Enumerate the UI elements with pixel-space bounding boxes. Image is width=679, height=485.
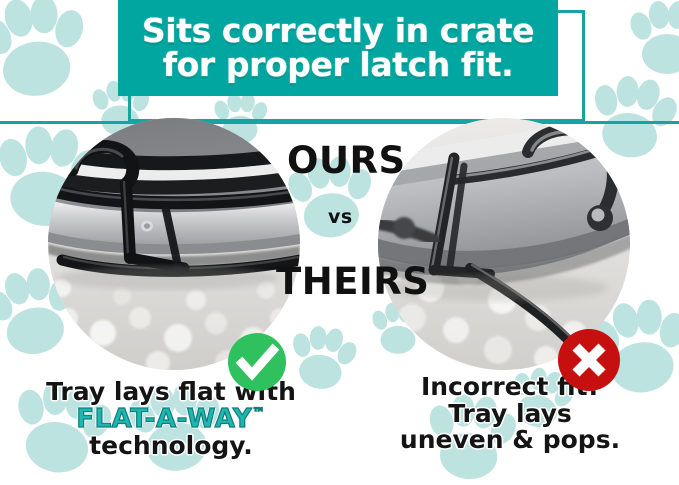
label-ours: OURS — [287, 139, 406, 182]
x-icon — [558, 329, 620, 391]
infographic-canvas: Sits correctly in crate for proper latch… — [0, 0, 679, 485]
caption-ours: Tray lays flat with FLAT-A-WAY™ technolo… — [6, 379, 336, 460]
brand-flat-a-way: FLAT-A-WAY — [76, 406, 252, 434]
banner-line-1: Sits correctly in crate — [142, 15, 534, 47]
label-vs: vs — [328, 206, 353, 228]
header-banner: Sits correctly in crate for proper latch… — [118, 0, 558, 96]
caption-theirs: Incorrect fit! Tray lays uneven & pops. — [345, 374, 675, 454]
label-theirs: THEIRS — [276, 260, 429, 303]
caption-theirs-line-2: Tray lays — [345, 401, 675, 428]
caption-theirs-line-3: uneven & pops. — [345, 427, 675, 454]
caption-theirs-line-1: Incorrect fit! — [345, 374, 675, 401]
trademark-symbol: ™ — [252, 407, 266, 421]
banner-line-2: for proper latch fit. — [163, 49, 514, 81]
caption-ours-brand-line: FLAT-A-WAY™ — [6, 406, 336, 434]
caption-ours-line-3: technology. — [6, 433, 336, 460]
caption-ours-line-1: Tray lays flat with — [6, 379, 336, 406]
check-icon — [228, 333, 286, 391]
